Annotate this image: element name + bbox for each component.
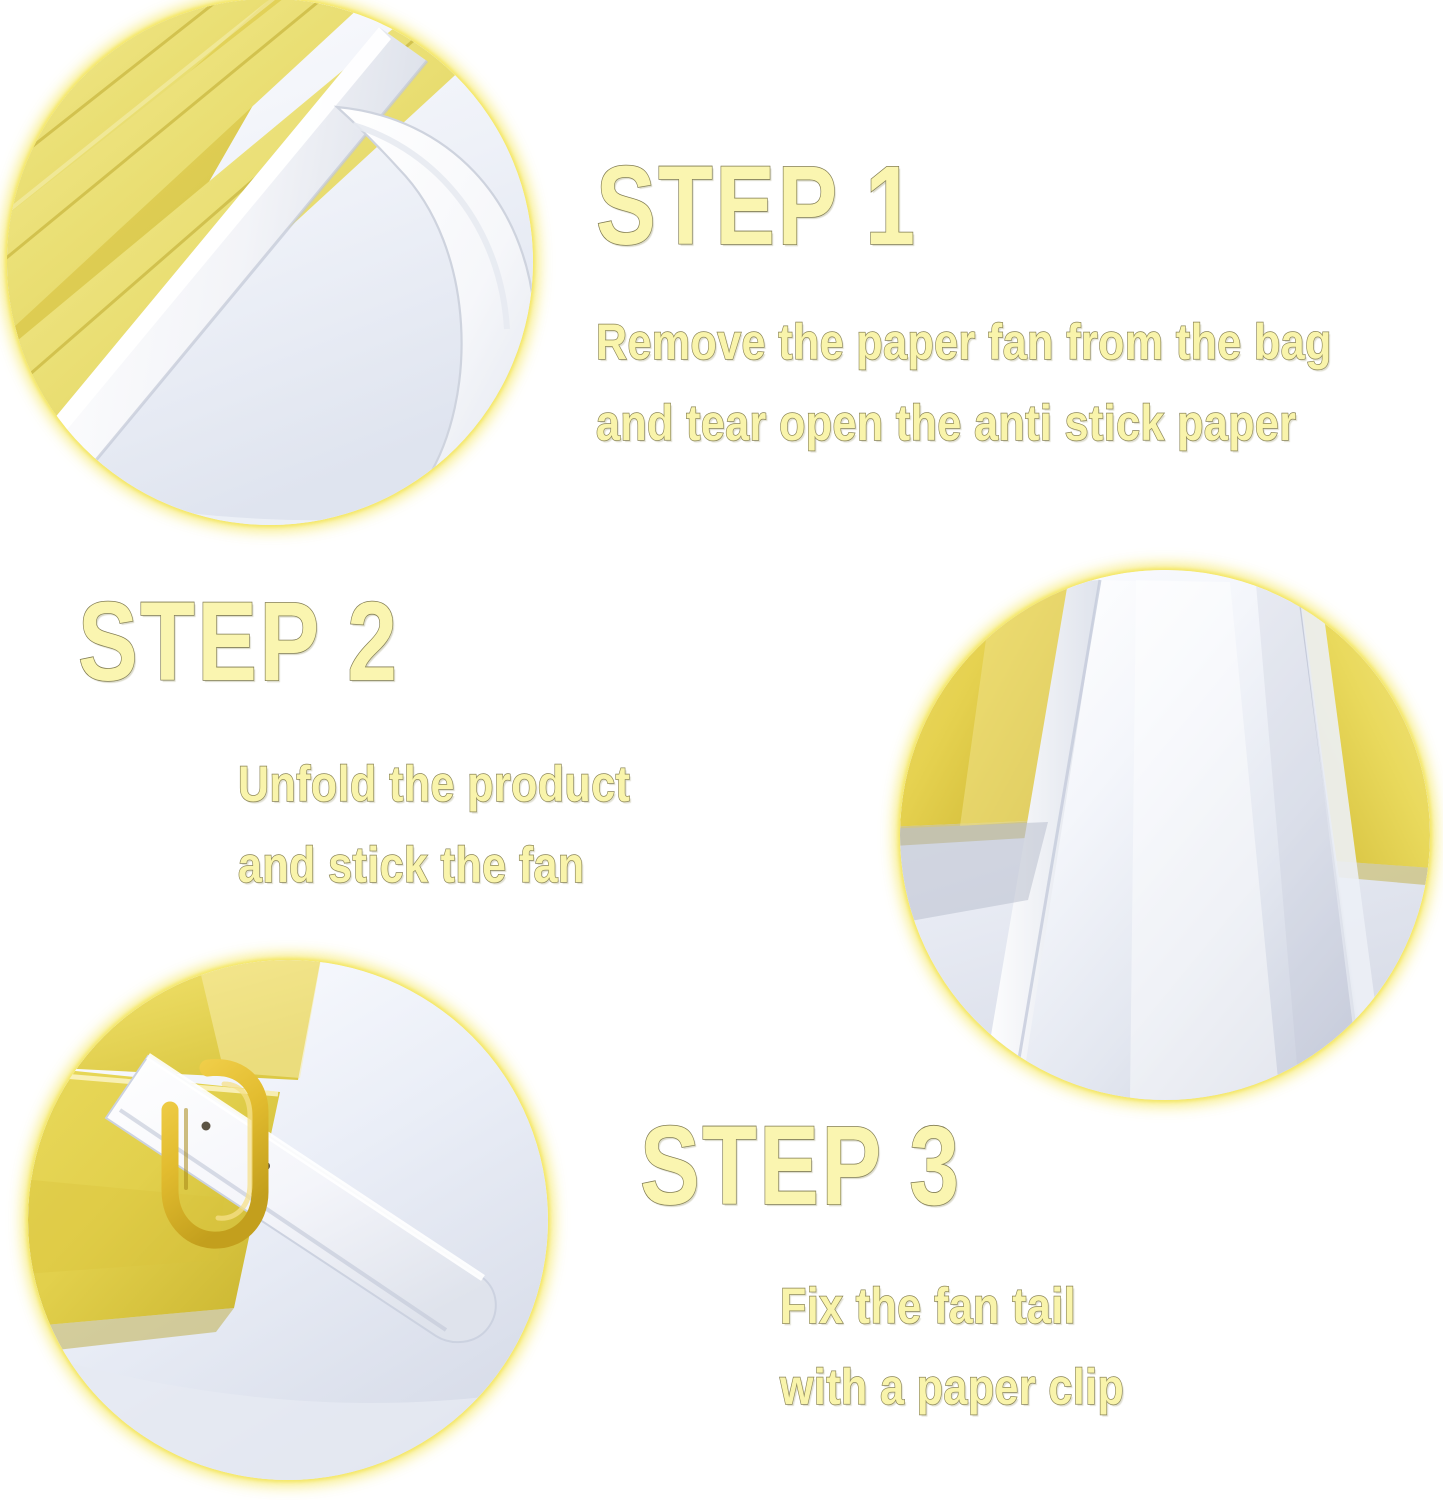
infographic-page: STEP 1 Remove the paper fan from the bag… xyxy=(0,0,1443,1500)
step-1-text-block: STEP 1 Remove the paper fan from the bag… xyxy=(596,150,1426,464)
yellow-fan-upper-face xyxy=(28,960,328,1080)
step-3-body: Fix the fan tail with a paper clip xyxy=(780,1266,1420,1428)
step-1-line-1: Remove the paper fan from the bag xyxy=(596,302,1310,383)
step-1-line-2: and tear open the anti stick paper xyxy=(596,383,1310,464)
step-2-line-2: and stick the fan xyxy=(238,825,702,906)
step-2-text-block: STEP 2 Unfold the product and stick the … xyxy=(78,586,778,906)
step-3-heading: STEP 3 xyxy=(640,1110,1264,1222)
strip-dot-left xyxy=(202,1122,211,1131)
step-1-heading: STEP 1 xyxy=(596,150,1260,262)
step-2-heading: STEP 2 xyxy=(78,586,638,698)
step-2-photo xyxy=(900,570,1430,1100)
step-3-text-block: STEP 3 Fix the fan tail with a paper cli… xyxy=(640,1110,1420,1428)
step-3-photo xyxy=(28,960,548,1480)
step-3-line-1: Fix the fan tail xyxy=(780,1266,1330,1347)
step-2-line-1: Unfold the product xyxy=(238,744,702,825)
step-2-body: Unfold the product and stick the fan xyxy=(238,744,778,906)
step-3-line-2: with a paper clip xyxy=(780,1347,1330,1428)
step-1-photo xyxy=(7,0,533,525)
step-1-body: Remove the paper fan from the bag and te… xyxy=(596,302,1426,464)
